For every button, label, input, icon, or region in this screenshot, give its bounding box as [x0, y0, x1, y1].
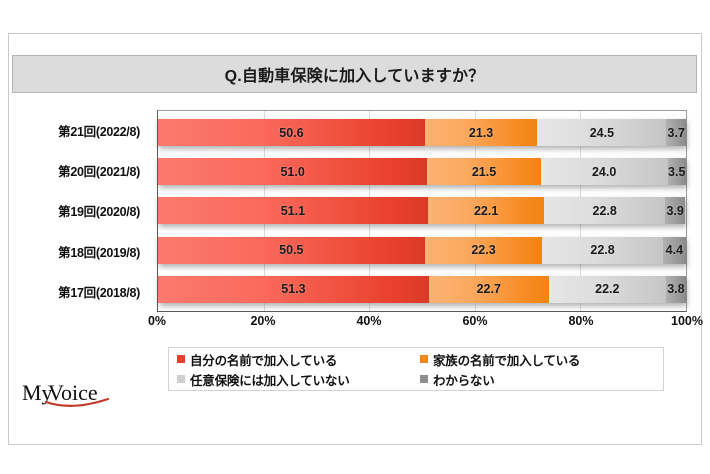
bar-segment[interactable]: 22.2 [549, 276, 666, 303]
bar-segment[interactable]: 22.1 [428, 197, 545, 224]
legend-item[interactable]: 自分の名前で加入している [177, 350, 420, 369]
bar-value-label: 24.0 [592, 165, 616, 179]
bar-segment[interactable]: 22.7 [429, 276, 549, 303]
bar-value-label: 22.1 [474, 204, 498, 218]
category-label: 第21回(2022/8) [0, 121, 148, 140]
bar-value-label: 3.7 [668, 126, 685, 140]
category-label: 第20回(2021/8) [0, 161, 148, 180]
bar-value-label: 51.0 [280, 165, 304, 179]
bar-row[interactable]: 51.021.524.03.5 [158, 158, 686, 185]
bar-value-label: 50.5 [279, 243, 303, 257]
legend-swatch-icon [420, 375, 428, 383]
bar-value-label: 3.9 [666, 204, 683, 218]
bar-value-label: 21.3 [469, 126, 493, 140]
bar-row[interactable]: 50.522.322.84.4 [158, 237, 686, 264]
bar-value-label: 22.7 [477, 282, 501, 296]
bar-value-label: 24.5 [590, 126, 614, 140]
myvoice-logo-mark: My Voice [22, 378, 142, 412]
value-axis-tick: 100% [671, 314, 703, 328]
chart-legend: 自分の名前で加入している家族の名前で加入している任意保険には加入していないわから… [168, 347, 664, 391]
legend-label: 自分の名前で加入している [190, 350, 337, 369]
bar-row[interactable]: 50.621.324.53.7 [158, 119, 686, 146]
legend-swatch-icon [420, 355, 428, 363]
bar-segment[interactable]: 24.0 [541, 158, 668, 185]
plot-area: 50.621.324.53.751.021.524.03.551.122.122… [157, 110, 687, 312]
legend-item[interactable]: わからない [420, 370, 663, 389]
legend-swatch-icon [177, 375, 185, 383]
bar-row[interactable]: 51.322.722.23.8 [158, 276, 686, 303]
page-title: Q.自動車保険に加入していますか？ [225, 62, 485, 86]
chart-title-banner: Q.自動車保険に加入していますか？ [12, 55, 697, 93]
category-axis-labels: 第21回(2022/8)第20回(2021/8)第19回(2020/8)第18回… [0, 110, 148, 312]
bar-segment[interactable]: 3.8 [666, 276, 686, 303]
bar-segment[interactable]: 22.8 [544, 197, 664, 224]
legend-item[interactable]: 任意保険には加入していない [177, 370, 420, 389]
category-label: 第17回(2018/8) [0, 282, 148, 301]
bar-value-label: 21.5 [472, 165, 496, 179]
bar-value-label: 51.3 [281, 282, 305, 296]
stacked-bar-chart: 第21回(2022/8)第20回(2021/8)第19回(2020/8)第18回… [0, 100, 710, 330]
bar-segment[interactable]: 51.1 [158, 197, 428, 224]
bar-segment[interactable]: 50.6 [158, 119, 425, 146]
category-label: 第18回(2019/8) [0, 242, 148, 261]
legend-label: わからない [433, 370, 495, 389]
myvoice-logo: My Voice [22, 378, 142, 412]
bar-segment[interactable]: 3.9 [665, 197, 686, 224]
bar-value-label: 3.5 [668, 165, 685, 179]
bar-value-label: 22.8 [593, 204, 617, 218]
bar-segment[interactable]: 3.7 [666, 119, 686, 146]
bar-segment[interactable]: 50.5 [158, 237, 425, 264]
logo-text-voice: Voice [48, 380, 98, 405]
bar-segment[interactable]: 21.3 [425, 119, 537, 146]
bar-value-label: 22.8 [590, 243, 614, 257]
value-axis-tick: 60% [462, 314, 487, 328]
bar-row[interactable]: 51.122.122.83.9 [158, 197, 686, 224]
chart-page: Q.自動車保険に加入していますか？ 第21回(2022/8)第20回(2021/… [0, 0, 710, 474]
bar-rows: 50.621.324.53.751.021.524.03.551.122.122… [158, 111, 686, 311]
bar-segment[interactable]: 22.3 [425, 237, 543, 264]
bar-value-label: 22.3 [471, 243, 495, 257]
bar-value-label: 4.4 [666, 243, 683, 257]
value-axis-tick: 80% [568, 314, 593, 328]
legend-label: 任意保険には加入していない [190, 370, 350, 389]
bar-value-label: 50.6 [279, 126, 303, 140]
bar-value-label: 51.1 [281, 204, 305, 218]
value-axis-tick: 0% [148, 314, 166, 328]
legend-label: 家族の名前で加入している [433, 350, 580, 369]
bar-segment[interactable]: 24.5 [537, 119, 666, 146]
bar-value-label: 3.8 [667, 282, 684, 296]
bar-segment[interactable]: 3.5 [668, 158, 686, 185]
bar-value-label: 22.2 [595, 282, 619, 296]
value-axis-tick: 20% [250, 314, 275, 328]
bar-segment[interactable]: 51.0 [158, 158, 427, 185]
bar-segment[interactable]: 51.3 [158, 276, 429, 303]
legend-item[interactable]: 家族の名前で加入している [420, 350, 663, 369]
bar-segment[interactable]: 4.4 [663, 237, 686, 264]
value-axis-tick: 40% [356, 314, 381, 328]
bar-segment[interactable]: 22.8 [542, 237, 662, 264]
legend-swatch-icon [177, 355, 185, 363]
bar-segment[interactable]: 21.5 [427, 158, 541, 185]
value-axis-labels: 0%20%40%60%80%100% [157, 314, 687, 334]
category-label: 第19回(2020/8) [0, 201, 148, 220]
